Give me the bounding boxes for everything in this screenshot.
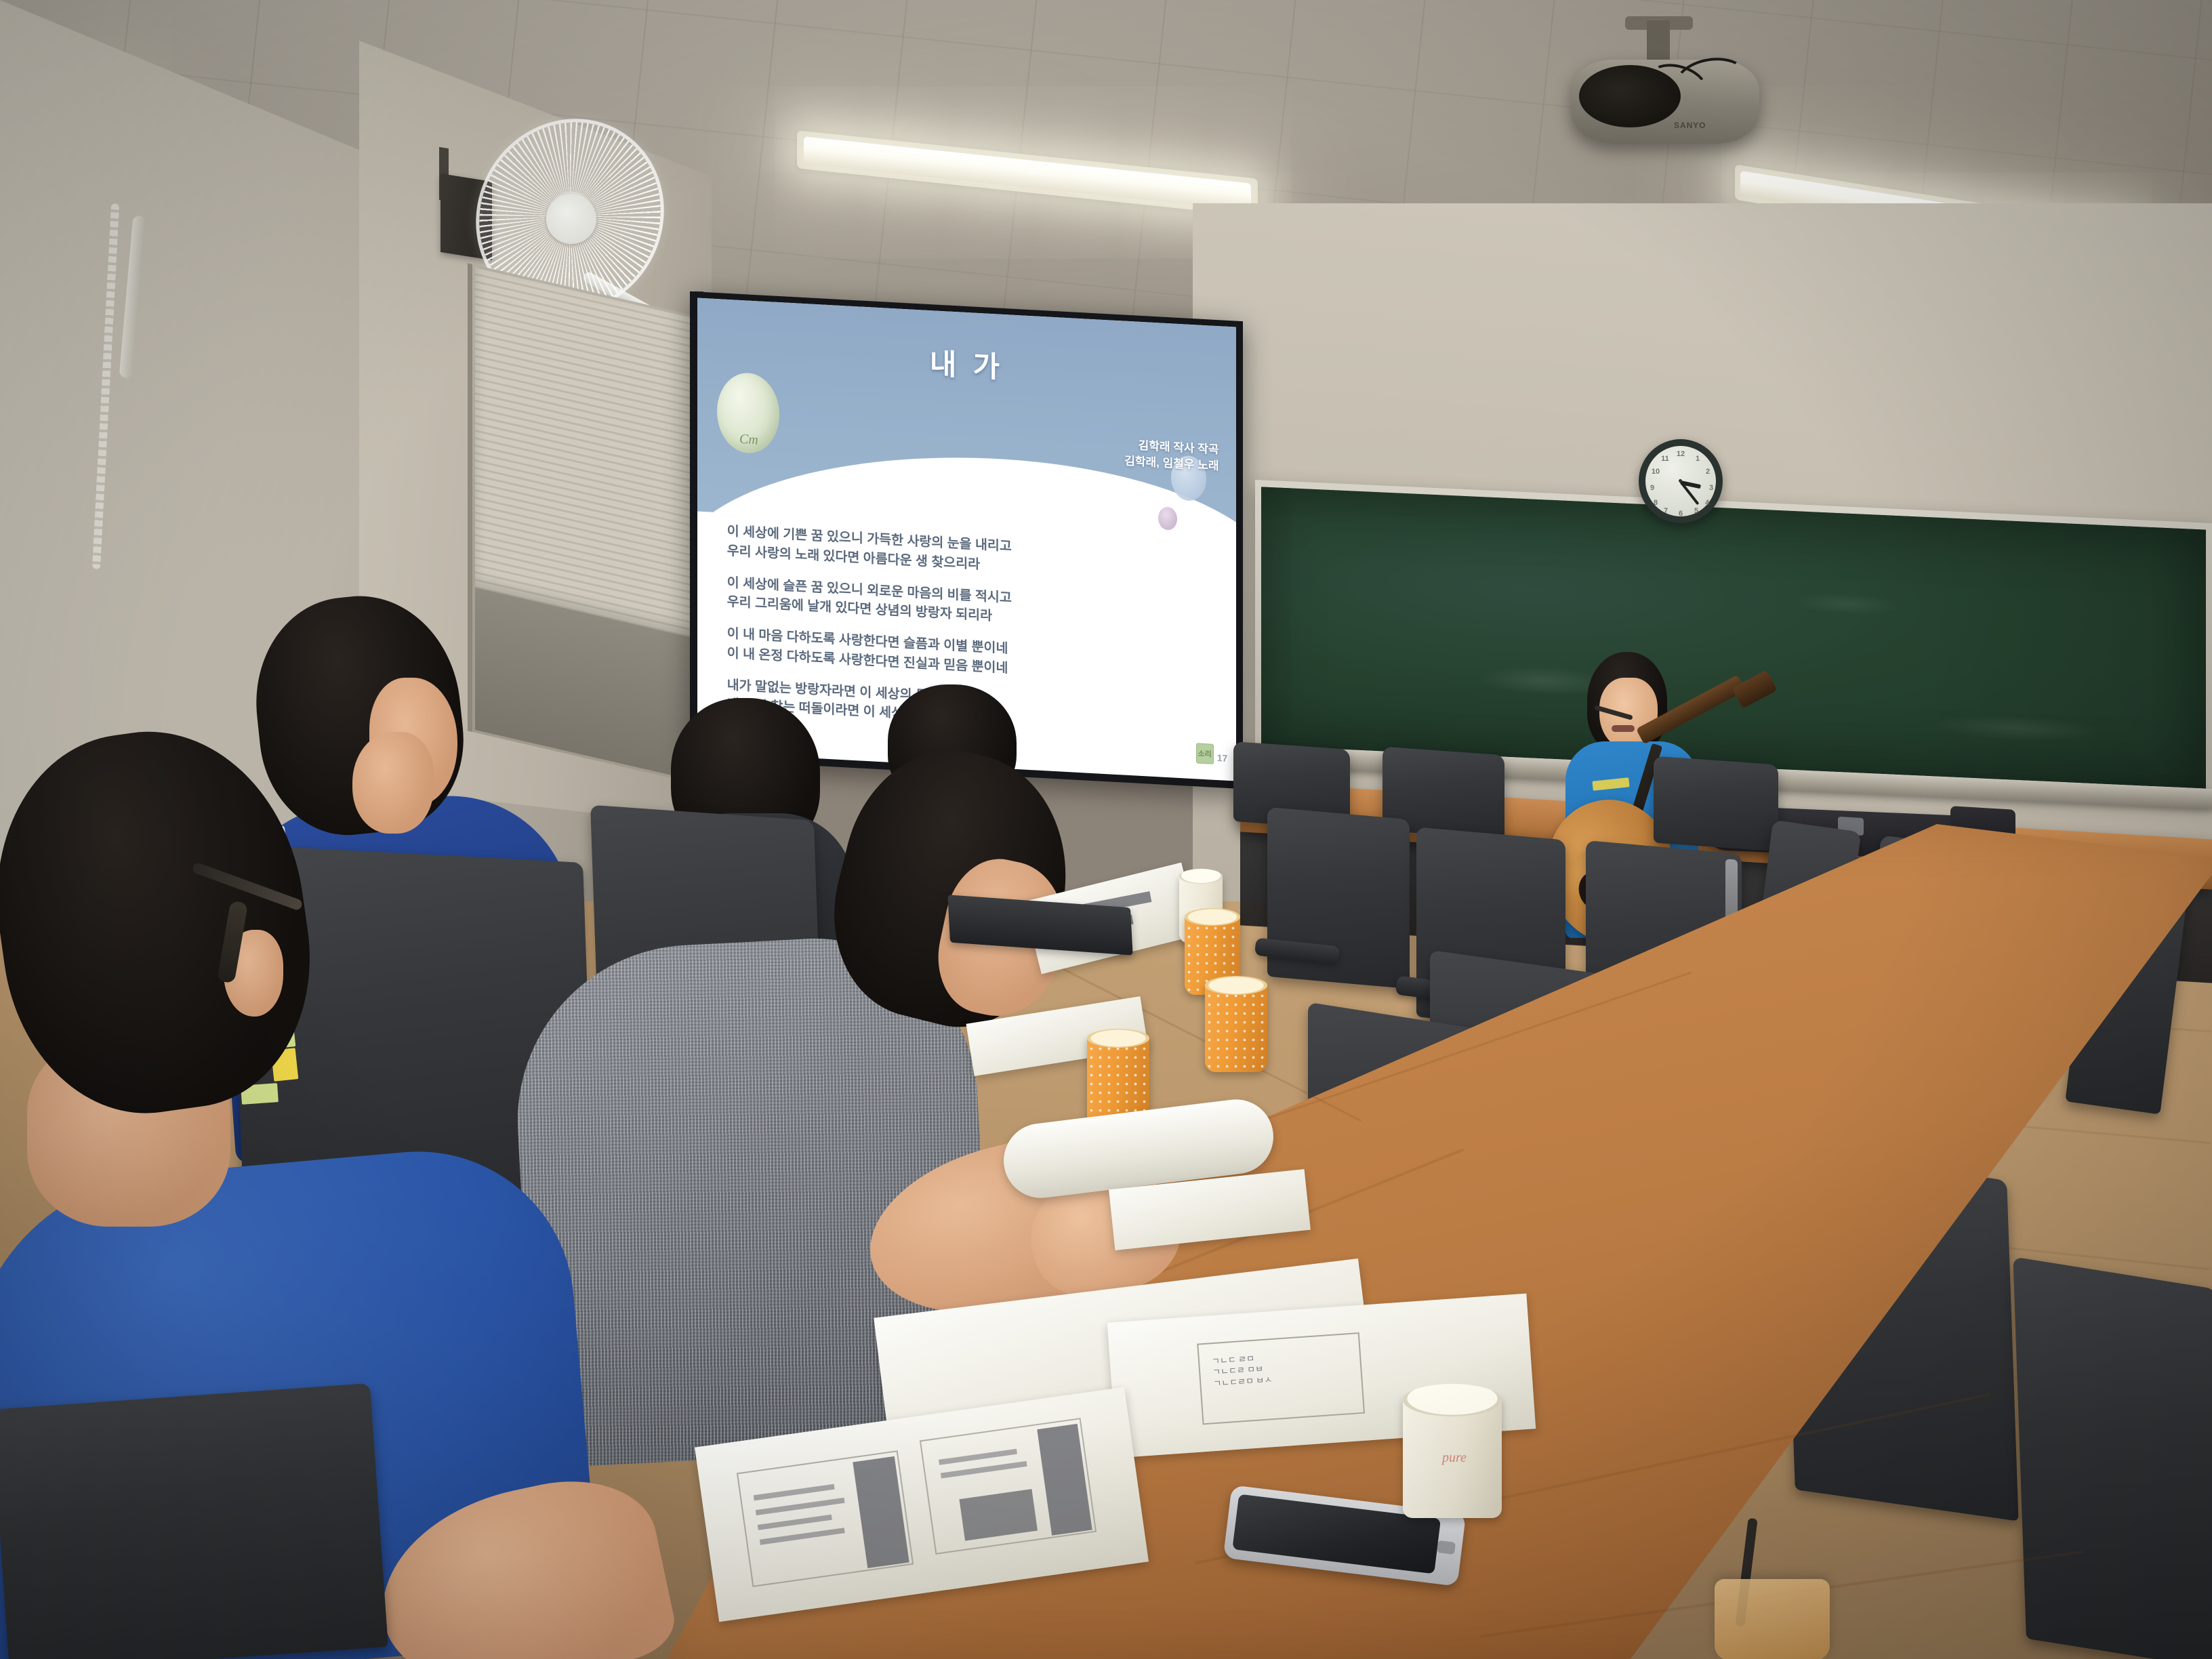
- phone-home-button[interactable]: [1437, 1540, 1456, 1555]
- clock-numeral: 4: [1702, 499, 1712, 507]
- cup-rim: [1403, 1384, 1502, 1416]
- clock-numeral: 1: [1693, 455, 1702, 463]
- clock-numeral: 11: [1660, 455, 1670, 463]
- orange-paper-cup[interactable]: [1205, 983, 1267, 1072]
- clock-numeral: 6: [1676, 510, 1685, 518]
- clock-face: 12 1 2 3 4 5 6 7 8 9 10 11: [1645, 446, 1716, 516]
- slide-credits: 김학래 작사 작곡 김학래, 임철우 노래: [1124, 436, 1218, 475]
- clock-numeral: 7: [1661, 507, 1671, 515]
- cup-rim: [1205, 976, 1267, 995]
- slide-logo-text: 소리: [1197, 748, 1213, 760]
- projector-brand-label: SANYO: [1674, 121, 1706, 130]
- attendee-hand: [352, 732, 434, 834]
- window: [468, 263, 712, 787]
- clock-numeral: 3: [1706, 484, 1716, 492]
- handwritten-note: ㄱㄴㄷ ㄹㅁ ㄱㄴㄷㄹ ㅁㅂ ㄱㄴㄷㄹㅁ ㅂㅅ: [1212, 1352, 1273, 1389]
- roller-blind: [475, 268, 709, 640]
- clock-numeral: 9: [1647, 484, 1657, 492]
- clock-numeral: 5: [1692, 507, 1701, 515]
- clock-numeral: 10: [1651, 468, 1660, 476]
- chair[interactable]: [2013, 1256, 2212, 1659]
- clock-numeral: 8: [1651, 499, 1660, 507]
- iced-drink-cup[interactable]: [1715, 1579, 1830, 1659]
- wall-clock: 12 1 2 3 4 5 6 7 8 9 10 11: [1639, 439, 1723, 523]
- chair[interactable]: [1654, 756, 1778, 852]
- fan-hub: [546, 194, 596, 244]
- presenter-mouth: [1612, 725, 1635, 732]
- handout-slide-box: [737, 1450, 914, 1587]
- cup-rim: [1179, 869, 1223, 884]
- clock-numeral: 2: [1703, 468, 1713, 476]
- clock-center-dot: [1679, 479, 1682, 483]
- handout-slide-box: [920, 1418, 1097, 1555]
- cup-rim: [1087, 1029, 1149, 1048]
- cup-brand-text: pure: [1442, 1450, 1467, 1466]
- chalk-dust: [1261, 487, 2206, 788]
- chair[interactable]: [1267, 807, 1410, 989]
- slide-logo-badge: 소리: [1196, 743, 1214, 764]
- cup-rim: [1185, 908, 1240, 926]
- slide-page-number: 17: [1217, 752, 1228, 764]
- slide-chord-mark: Cm: [739, 432, 758, 449]
- seminar-room-photo: SANYO Cm 내 가 김학래 작사: [0, 0, 2212, 1659]
- chair[interactable]: [0, 1383, 388, 1659]
- chalkboard: [1261, 487, 2206, 788]
- clock-numeral: 12: [1676, 450, 1685, 458]
